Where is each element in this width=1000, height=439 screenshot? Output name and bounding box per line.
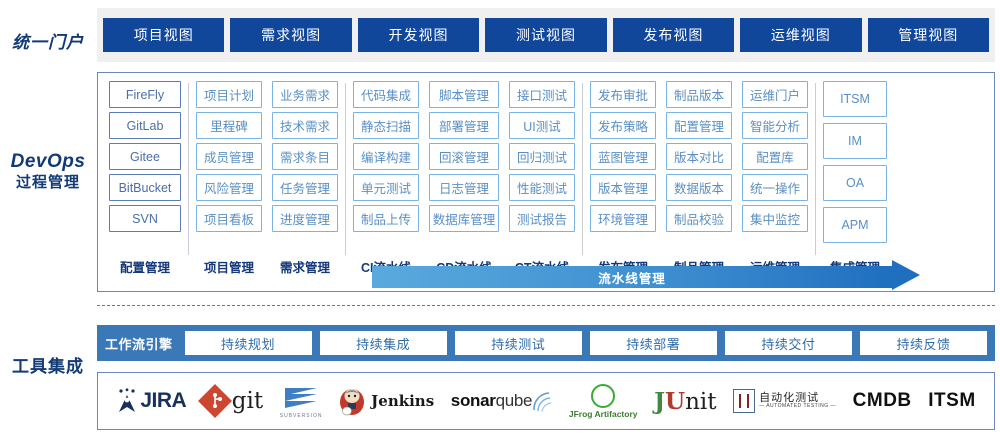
capability-cell[interactable]: 性能测试 bbox=[509, 174, 575, 201]
logo-sonarqube: sonarqube bbox=[451, 379, 552, 423]
capability-cell[interactable]: BitBucket bbox=[109, 174, 181, 201]
capability-cell[interactable]: 项目计划 bbox=[196, 81, 262, 108]
capability-cell[interactable]: 回滚管理 bbox=[429, 143, 499, 170]
subversion-icon bbox=[281, 384, 321, 412]
logo-jfrog: JFrog Artifactory bbox=[569, 379, 638, 423]
portal-view-button-6[interactable]: 运维视图 bbox=[740, 18, 861, 52]
capability-cell[interactable]: 配置库 bbox=[742, 143, 808, 170]
sonarqube-label-bold: sonar bbox=[451, 391, 496, 411]
capability-cell[interactable]: 风险管理 bbox=[196, 174, 262, 201]
workflow-stage-4[interactable]: 持续部署 bbox=[590, 331, 717, 355]
portal-view-button-3[interactable]: 开发视图 bbox=[358, 18, 479, 52]
capability-column-3: 业务需求技术需求需求条目任务管理进度管理 bbox=[267, 81, 343, 255]
jfrog-label: JFrog Artifactory bbox=[569, 409, 638, 419]
capability-cell[interactable]: 业务需求 bbox=[272, 81, 338, 108]
capability-column-8: 制品版本配置管理版本对比数据版本制品校验 bbox=[661, 81, 737, 255]
capability-cell[interactable]: 蓝图管理 bbox=[590, 143, 656, 170]
logo-subversion: SUBVERSION bbox=[280, 379, 323, 423]
workflow-stage-6[interactable]: 持续反馈 bbox=[860, 331, 987, 355]
capability-cell[interactable]: 环境管理 bbox=[590, 205, 656, 232]
capability-cell[interactable]: 配置管理 bbox=[666, 112, 732, 139]
portal-view-button-2[interactable]: 需求视图 bbox=[230, 18, 351, 52]
capability-cell[interactable]: 里程碑 bbox=[196, 112, 262, 139]
portal-view-button-4[interactable]: 测试视图 bbox=[485, 18, 606, 52]
rail-label-devops-line2: 过程管理 bbox=[0, 174, 96, 193]
workflow-stage-1[interactable]: 持续规划 bbox=[185, 331, 312, 355]
jenkins-icon bbox=[339, 386, 365, 416]
capability-cell[interactable]: IM bbox=[823, 123, 887, 159]
pipeline-arrow-label: 流水线管理 bbox=[598, 268, 666, 287]
pipeline-arrow: 流水线管理 bbox=[372, 266, 892, 288]
portal-view-button-5[interactable]: 发布视图 bbox=[613, 18, 734, 52]
devops-architecture-diagram: 统一门户 DevOps 过程管理 工具集成 项目视图需求视图开发视图测试视图发布… bbox=[0, 0, 1000, 439]
pipeline-arrow-row: 流水线管理 bbox=[97, 264, 995, 290]
capability-cell[interactable]: 进度管理 bbox=[272, 205, 338, 232]
capability-cell[interactable]: SVN bbox=[109, 205, 181, 232]
jenkins-label: Jenkins bbox=[371, 392, 434, 410]
junit-label: JUnit bbox=[654, 388, 716, 415]
capability-cell[interactable]: 任务管理 bbox=[272, 174, 338, 201]
capability-cell[interactable]: 日志管理 bbox=[429, 174, 499, 201]
capability-cell[interactable]: 技术需求 bbox=[272, 112, 338, 139]
capability-cell[interactable]: APM bbox=[823, 207, 887, 243]
logo-jenkins: Jenkins bbox=[339, 379, 434, 423]
workflow-engine-label: 工作流引擎 bbox=[105, 334, 177, 353]
capability-column-4: 代码集成静态扫描编译构建单元测试制品上传 bbox=[348, 81, 424, 255]
capability-cell[interactable]: GitLab bbox=[109, 112, 181, 139]
portal-view-button-7[interactable]: 管理视图 bbox=[868, 18, 989, 52]
capability-cell[interactable]: 接口测试 bbox=[509, 81, 575, 108]
capability-cell[interactable]: 制品上传 bbox=[353, 205, 419, 232]
capability-cell[interactable]: 运维门户 bbox=[742, 81, 808, 108]
subversion-label: SUBVERSION bbox=[280, 413, 323, 419]
capability-cell[interactable]: 代码集成 bbox=[353, 81, 419, 108]
capability-cell[interactable]: 集中监控 bbox=[742, 205, 808, 232]
capability-cell[interactable]: 回归测试 bbox=[509, 143, 575, 170]
column-divider bbox=[815, 83, 816, 255]
capability-cell[interactable]: 智能分析 bbox=[742, 112, 808, 139]
git-label: git bbox=[232, 388, 263, 414]
logo-jira: JIRA bbox=[116, 379, 186, 423]
jira-icon bbox=[116, 388, 138, 414]
capability-column-9: 运维门户智能分析配置库统一操作集中监控 bbox=[737, 81, 813, 255]
capability-cell[interactable]: 发布策略 bbox=[590, 112, 656, 139]
capability-cell[interactable]: 制品校验 bbox=[666, 205, 732, 232]
capability-cell[interactable]: 成员管理 bbox=[196, 143, 262, 170]
capability-cell[interactable]: 编译构建 bbox=[353, 143, 419, 170]
sonarqube-arcs-icon bbox=[532, 390, 552, 412]
logo-git: git bbox=[203, 379, 263, 423]
sonarqube-label-thin: qube bbox=[496, 391, 533, 411]
column-divider bbox=[345, 83, 346, 255]
logo-cmdb: CMDB bbox=[853, 379, 912, 423]
automation-box-icon bbox=[733, 389, 755, 413]
portal-view-button-1[interactable]: 项目视图 bbox=[103, 18, 224, 52]
rail-label-portal: 统一门户 bbox=[0, 28, 96, 53]
automation-label-en: — AUTOMATED TESTING — bbox=[759, 404, 836, 410]
workflow-stage-3[interactable]: 持续测试 bbox=[455, 331, 582, 355]
rail-label-tools: 工具集成 bbox=[0, 352, 96, 377]
capability-cell[interactable]: 部署管理 bbox=[429, 112, 499, 139]
capability-cell[interactable]: 版本对比 bbox=[666, 143, 732, 170]
portal-view-bar: 项目视图需求视图开发视图测试视图发布视图运维视图管理视图 bbox=[97, 8, 995, 62]
capability-cell[interactable]: 脚本管理 bbox=[429, 81, 499, 108]
workflow-engine-bar: 工作流引擎 持续规划持续集成持续测试持续部署持续交付持续反馈 bbox=[97, 325, 995, 361]
git-diamond-icon bbox=[198, 384, 232, 418]
workflow-stage-2[interactable]: 持续集成 bbox=[320, 331, 447, 355]
column-divider bbox=[188, 83, 189, 255]
capability-cell[interactable]: 制品版本 bbox=[666, 81, 732, 108]
capability-column-10: ITSMIMOAAPM bbox=[818, 81, 892, 255]
capability-column-7: 发布审批发布策略蓝图管理版本管理环境管理 bbox=[585, 81, 661, 255]
jfrog-ring-icon bbox=[591, 384, 615, 408]
capability-cell[interactable]: 统一操作 bbox=[742, 174, 808, 201]
capability-column-2: 项目计划里程碑成员管理风险管理项目看板 bbox=[191, 81, 267, 255]
capability-column-5: 脚本管理部署管理回滚管理日志管理数据库管理 bbox=[424, 81, 504, 255]
section-separator bbox=[97, 305, 995, 306]
jira-label: JIRA bbox=[140, 389, 186, 413]
capability-cell[interactable]: ITSM bbox=[823, 81, 887, 117]
capability-cell[interactable]: 需求条目 bbox=[272, 143, 338, 170]
itsm-label: ITSM bbox=[928, 390, 975, 412]
logo-automation: 自动化测试— AUTOMATED TESTING — bbox=[733, 379, 836, 423]
rail-label-devops: DevOps 过程管理 bbox=[0, 150, 96, 193]
pipeline-arrow-head-icon bbox=[892, 260, 920, 290]
capability-cell[interactable]: 测试报告 bbox=[509, 205, 575, 232]
tool-logo-strip: JIRAgitSUBVERSIONJenkinssonarqubeJFrog A… bbox=[97, 372, 995, 430]
capability-cell[interactable]: 静态扫描 bbox=[353, 112, 419, 139]
capability-cell[interactable]: OA bbox=[823, 165, 887, 201]
capability-cell[interactable]: 发布审批 bbox=[590, 81, 656, 108]
logo-junit: JUnit bbox=[654, 379, 716, 423]
capability-cell[interactable]: Gitee bbox=[109, 143, 181, 170]
capability-cell[interactable]: 版本管理 bbox=[590, 174, 656, 201]
column-divider bbox=[582, 83, 583, 255]
rail-label-devops-line1: DevOps bbox=[0, 150, 96, 174]
capability-cell[interactable]: 项目看板 bbox=[196, 205, 262, 232]
capability-cell[interactable]: 单元测试 bbox=[353, 174, 419, 201]
capability-column-1: FireFlyGitLabGiteeBitBucketSVN bbox=[104, 81, 186, 255]
capability-cell[interactable]: FireFly bbox=[109, 81, 181, 108]
capability-grid: FireFlyGitLabGiteeBitBucketSVN项目计划里程碑成员管… bbox=[98, 73, 994, 255]
workflow-stage-5[interactable]: 持续交付 bbox=[725, 331, 852, 355]
capability-cell[interactable]: UI测试 bbox=[509, 112, 575, 139]
capability-cell[interactable]: 数据版本 bbox=[666, 174, 732, 201]
capability-column-6: 接口测试UI测试回归测试性能测试测试报告 bbox=[504, 81, 580, 255]
devops-process-panel: FireFlyGitLabGiteeBitBucketSVN项目计划里程碑成员管… bbox=[97, 72, 995, 292]
logo-itsm: ITSM bbox=[928, 379, 975, 423]
cmdb-label: CMDB bbox=[853, 390, 912, 412]
capability-cell[interactable]: 数据库管理 bbox=[429, 205, 499, 232]
